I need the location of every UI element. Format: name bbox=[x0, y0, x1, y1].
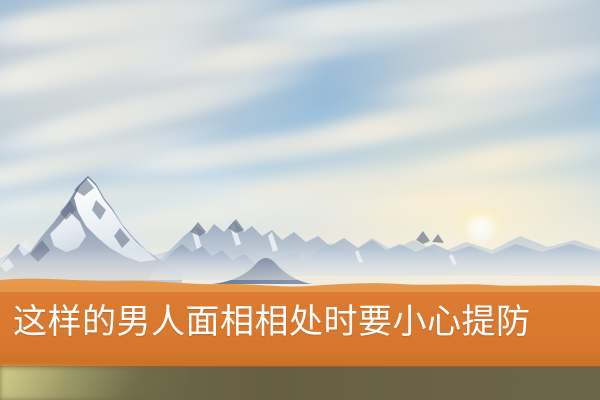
image-canvas: 这样的男人面相相处时要小心提防 bbox=[0, 0, 600, 400]
caption-text: 这样的男人面相相处时要小心提防 bbox=[0, 305, 531, 339]
caption-banner: 这样的男人面相相处时要小心提防 bbox=[0, 292, 600, 352]
foreground-light-patch bbox=[0, 367, 190, 400]
mountain-range bbox=[0, 0, 600, 300]
